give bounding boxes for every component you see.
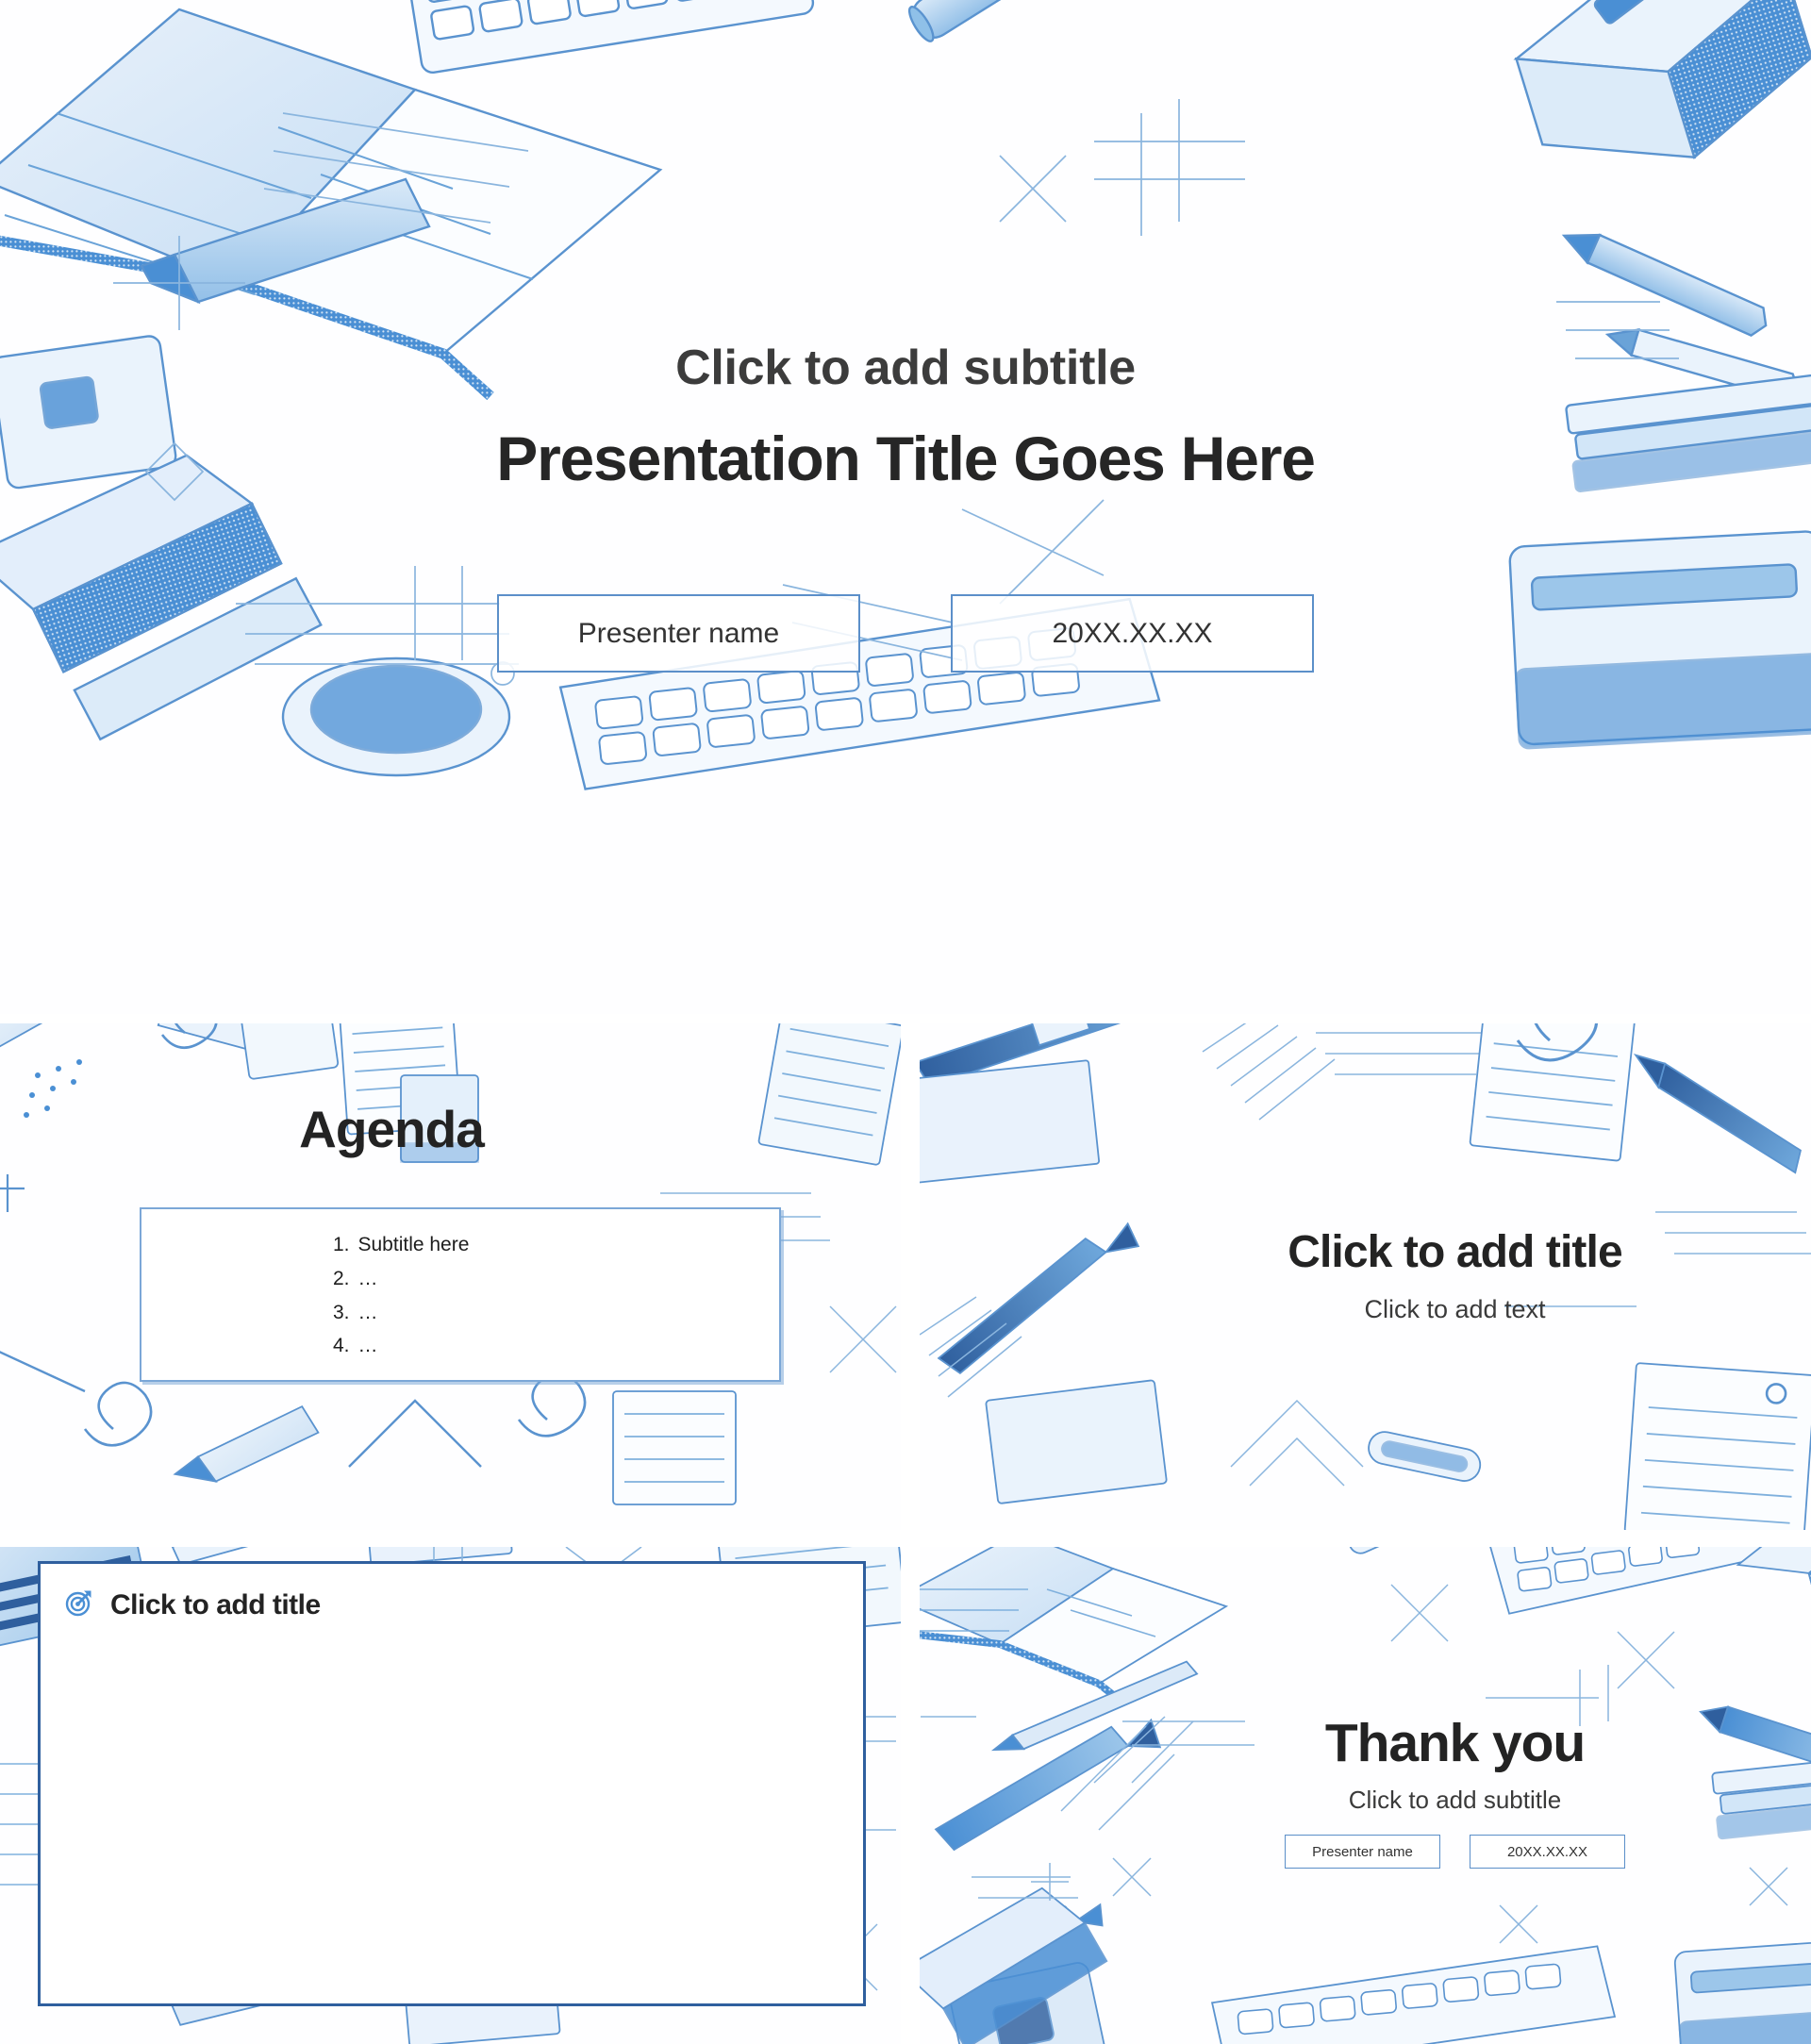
content-panel-header: Click to add title (63, 1587, 321, 1623)
slide-title-and-text[interactable]: Click to add title Click to add text (920, 1023, 1811, 1530)
target-icon (63, 1587, 95, 1623)
list-item: 1. Subtitle here (141, 1234, 779, 1257)
list-item: 4. … (141, 1335, 779, 1358)
content-panel-title[interactable]: Click to add title (110, 1589, 321, 1621)
slide-text-placeholder[interactable]: Click to add text (1009, 1295, 1811, 1324)
agenda-item-number: 4. (318, 1335, 350, 1358)
presenter-name-box[interactable]: Presenter name (497, 594, 860, 673)
thank-you-subtitle[interactable]: Click to add subtitle (1009, 1786, 1811, 1815)
date-box[interactable]: 20XX.XX.XX (1470, 1835, 1625, 1869)
agenda-item-number: 3. (318, 1302, 350, 1325)
agenda-list: 1. Subtitle here 2. … 3. … 4. … (141, 1234, 779, 1369)
slide-deck-preview: Click to add subtitle Presentation Title… (0, 0, 1811, 2044)
agenda-item-text: … (358, 1302, 604, 1325)
agenda-list-box[interactable]: 1. Subtitle here 2. … 3. … 4. … (140, 1207, 781, 1382)
slide-subtitle-placeholder[interactable]: Click to add subtitle (0, 340, 1811, 396)
slide-title-placeholder[interactable]: Click to add title (1009, 1226, 1811, 1278)
slide-main-title[interactable]: Presentation Title Goes Here (0, 423, 1811, 494)
agenda-item-text: Subtitle here (358, 1234, 604, 1257)
agenda-item-number: 1. (318, 1234, 350, 1257)
title-info-row: Presenter name 20XX.XX.XX (0, 594, 1811, 673)
agenda-title[interactable]: Agenda (0, 1099, 783, 1159)
agenda-item-number: 2. (318, 1268, 350, 1291)
agenda-item-text: … (358, 1335, 604, 1358)
list-item: 2. … (141, 1268, 779, 1291)
slide-content-panel[interactable]: Click to add title (0, 1547, 901, 2044)
agenda-item-text: … (358, 1268, 604, 1291)
thank-you-title[interactable]: Thank you (1009, 1712, 1811, 1774)
list-item: 3. … (141, 1302, 779, 1325)
stationery-illustration-title (0, 0, 1811, 1014)
content-panel[interactable]: Click to add title (38, 1561, 866, 2006)
date-box[interactable]: 20XX.XX.XX (951, 594, 1314, 673)
slide-title[interactable]: Click to add subtitle Presentation Title… (0, 0, 1811, 1014)
thank-you-info-row: Presenter name 20XX.XX.XX (1009, 1835, 1811, 1869)
slide-thank-you[interactable]: Thank you Click to add subtitle Presente… (920, 1547, 1811, 2044)
slide-agenda[interactable]: Agenda 1. Subtitle here 2. … 3. … 4. … (0, 1023, 901, 1530)
presenter-name-box[interactable]: Presenter name (1285, 1835, 1440, 1869)
